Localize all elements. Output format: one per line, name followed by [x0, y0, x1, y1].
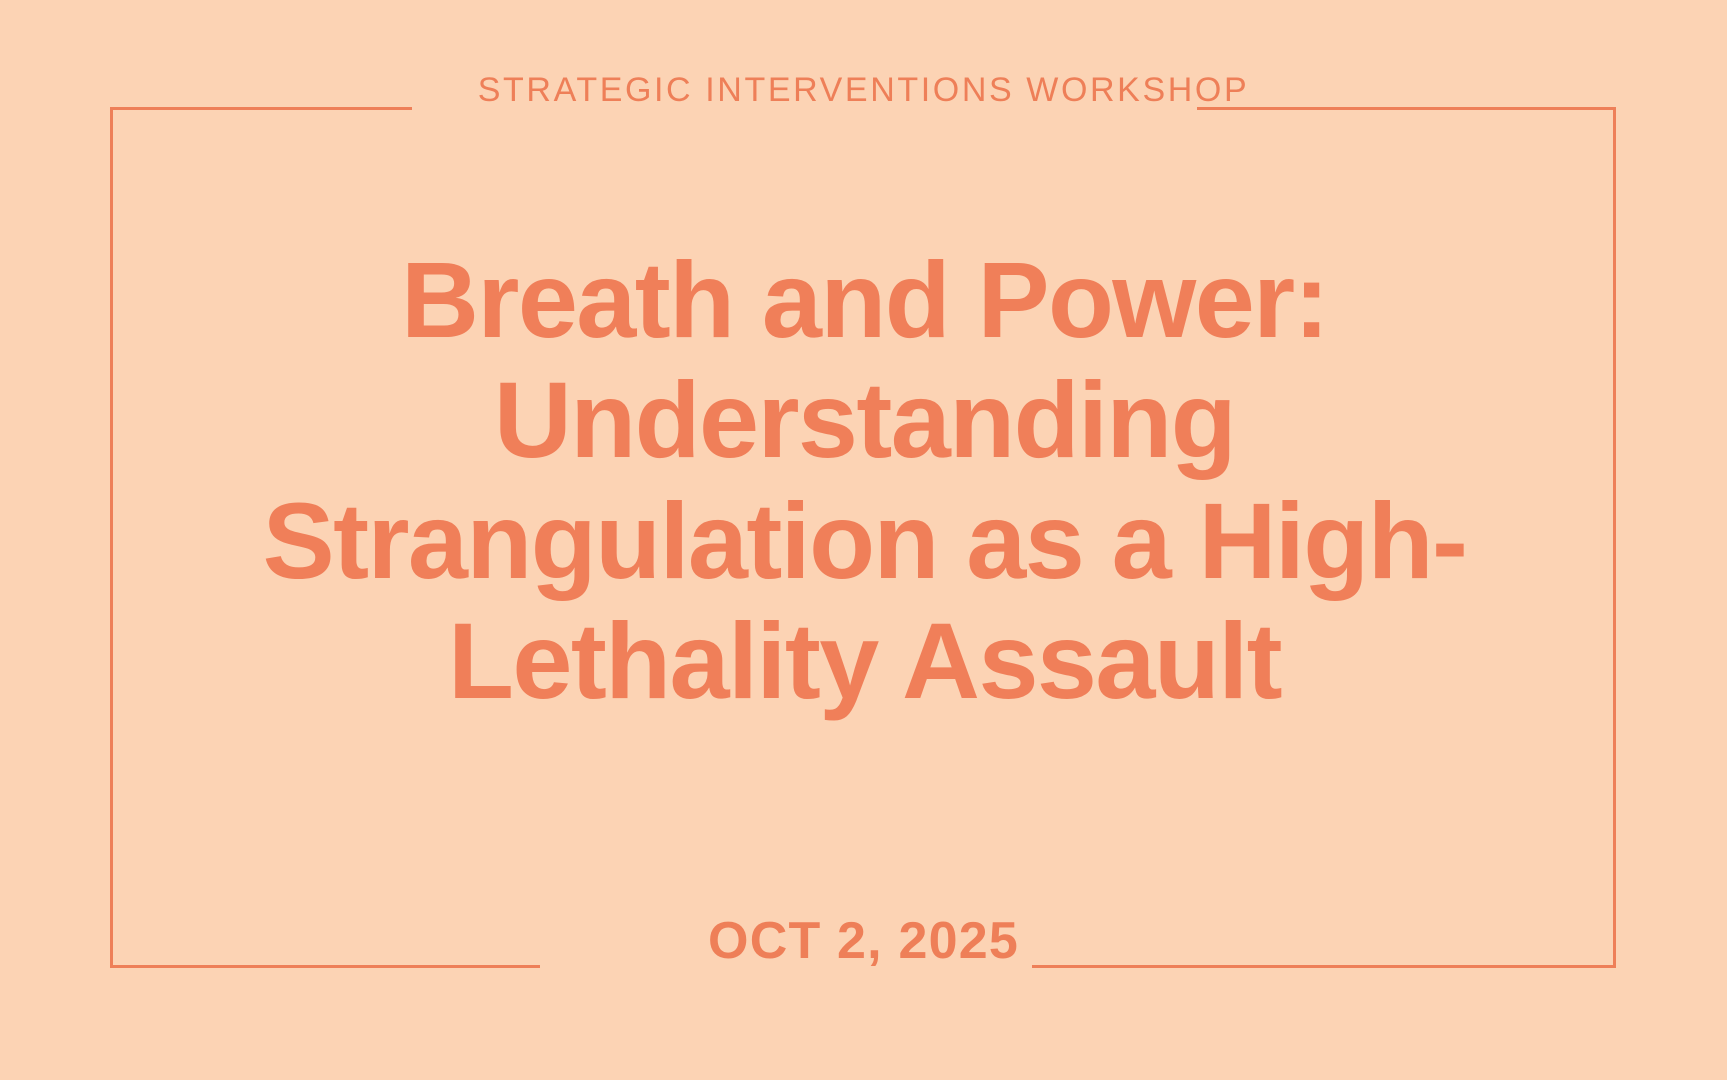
title-block: Breath and Power: Understanding Strangul…: [113, 240, 1616, 722]
title-line-3: Strangulation as a High-: [113, 481, 1616, 601]
eyebrow-label: STRATEGIC INTERVENTIONS WORKSHOP: [0, 73, 1727, 107]
title-line-2: Understanding: [113, 360, 1616, 480]
date-label: OCT 2, 2025: [0, 915, 1727, 967]
frame-rule-top-left: [110, 107, 412, 110]
title-line-4: Lethality Assault: [113, 601, 1616, 721]
title-line-1: Breath and Power:: [113, 240, 1616, 360]
title-slide: STRATEGIC INTERVENTIONS WORKSHOP Breath …: [0, 0, 1727, 1080]
frame-rule-top-right: [1197, 107, 1616, 110]
page-title: Breath and Power: Understanding Strangul…: [113, 240, 1616, 722]
